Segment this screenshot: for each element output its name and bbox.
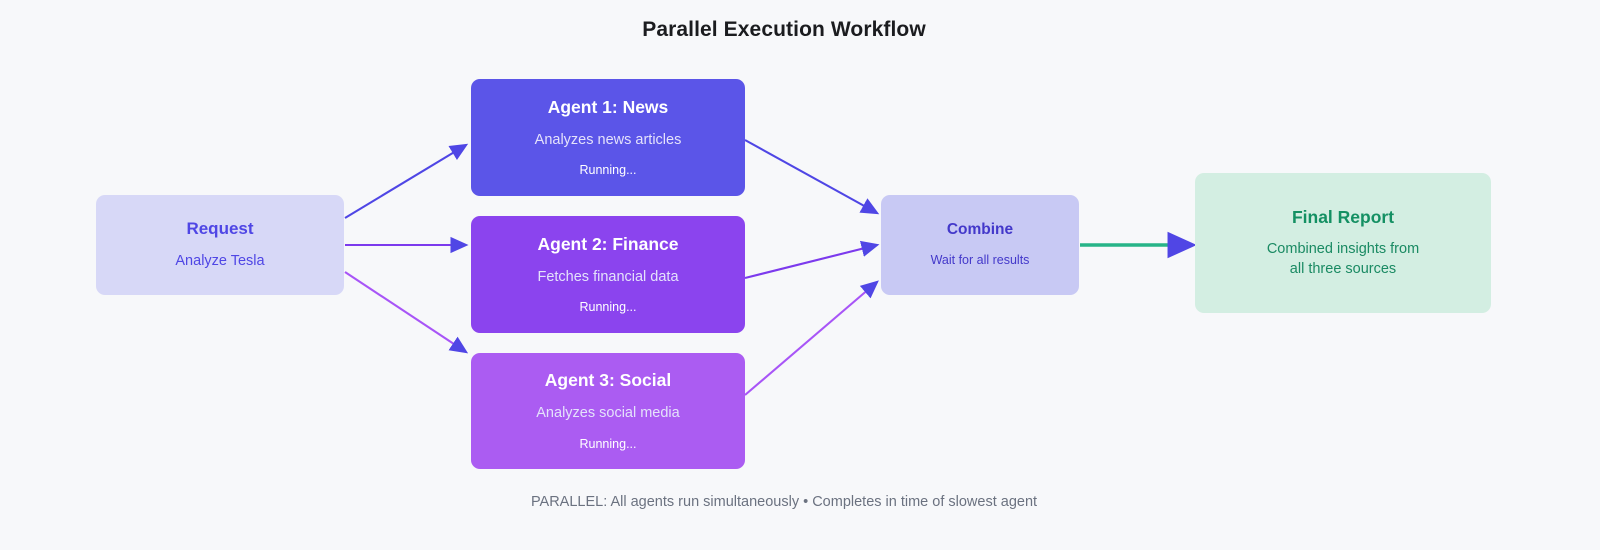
node-combine[interactable]: Combine Wait for all results [881,195,1079,295]
node-final-report-title: Final Report [1292,207,1394,228]
node-agent-3-title: Agent 3: Social [545,370,671,391]
node-request-title: Request [186,219,253,239]
node-final-report[interactable]: Final Report Combined insights from all … [1195,173,1491,313]
edge-agent-3-to-combine [745,282,877,395]
node-final-report-subtitle-line-1: Combined insights from [1267,240,1419,260]
workflow-diagram: Parallel Execution Workflow Request A [0,0,1600,550]
edge-agent-2-to-combine [745,245,877,278]
diagram-caption: PARALLEL: All agents run simultaneously … [0,494,1568,510]
node-agent-2[interactable]: Agent 2: Finance Fetches financial data … [471,216,745,333]
node-agent-1-subtitle: Analyzes news articles [535,131,682,151]
node-agent-1-title: Agent 1: News [548,97,669,118]
node-agent-3[interactable]: Agent 3: Social Analyzes social media Ru… [471,353,745,469]
edge-request-to-agent-1 [345,145,466,218]
node-combine-subtitle: Wait for all results [931,252,1030,269]
node-agent-3-subtitle: Analyzes social media [536,404,679,424]
edge-agent-1-to-combine [745,140,877,213]
node-final-report-subtitle-line-2: all three sources [1290,260,1396,280]
page-title: Parallel Execution Workflow [0,18,1568,42]
node-agent-2-subtitle: Fetches financial data [537,268,678,288]
node-combine-title: Combine [947,221,1013,240]
node-agent-2-status: Running... [580,300,637,315]
edge-request-to-agent-3 [345,272,466,352]
node-agent-3-status: Running... [580,437,637,452]
node-agent-2-title: Agent 2: Finance [538,234,679,255]
node-agent-1-status: Running... [580,163,637,178]
node-request-subtitle: Analyze Tesla [175,252,264,272]
node-request[interactable]: Request Analyze Tesla [96,195,344,295]
node-agent-1[interactable]: Agent 1: News Analyzes news articles Run… [471,79,745,196]
